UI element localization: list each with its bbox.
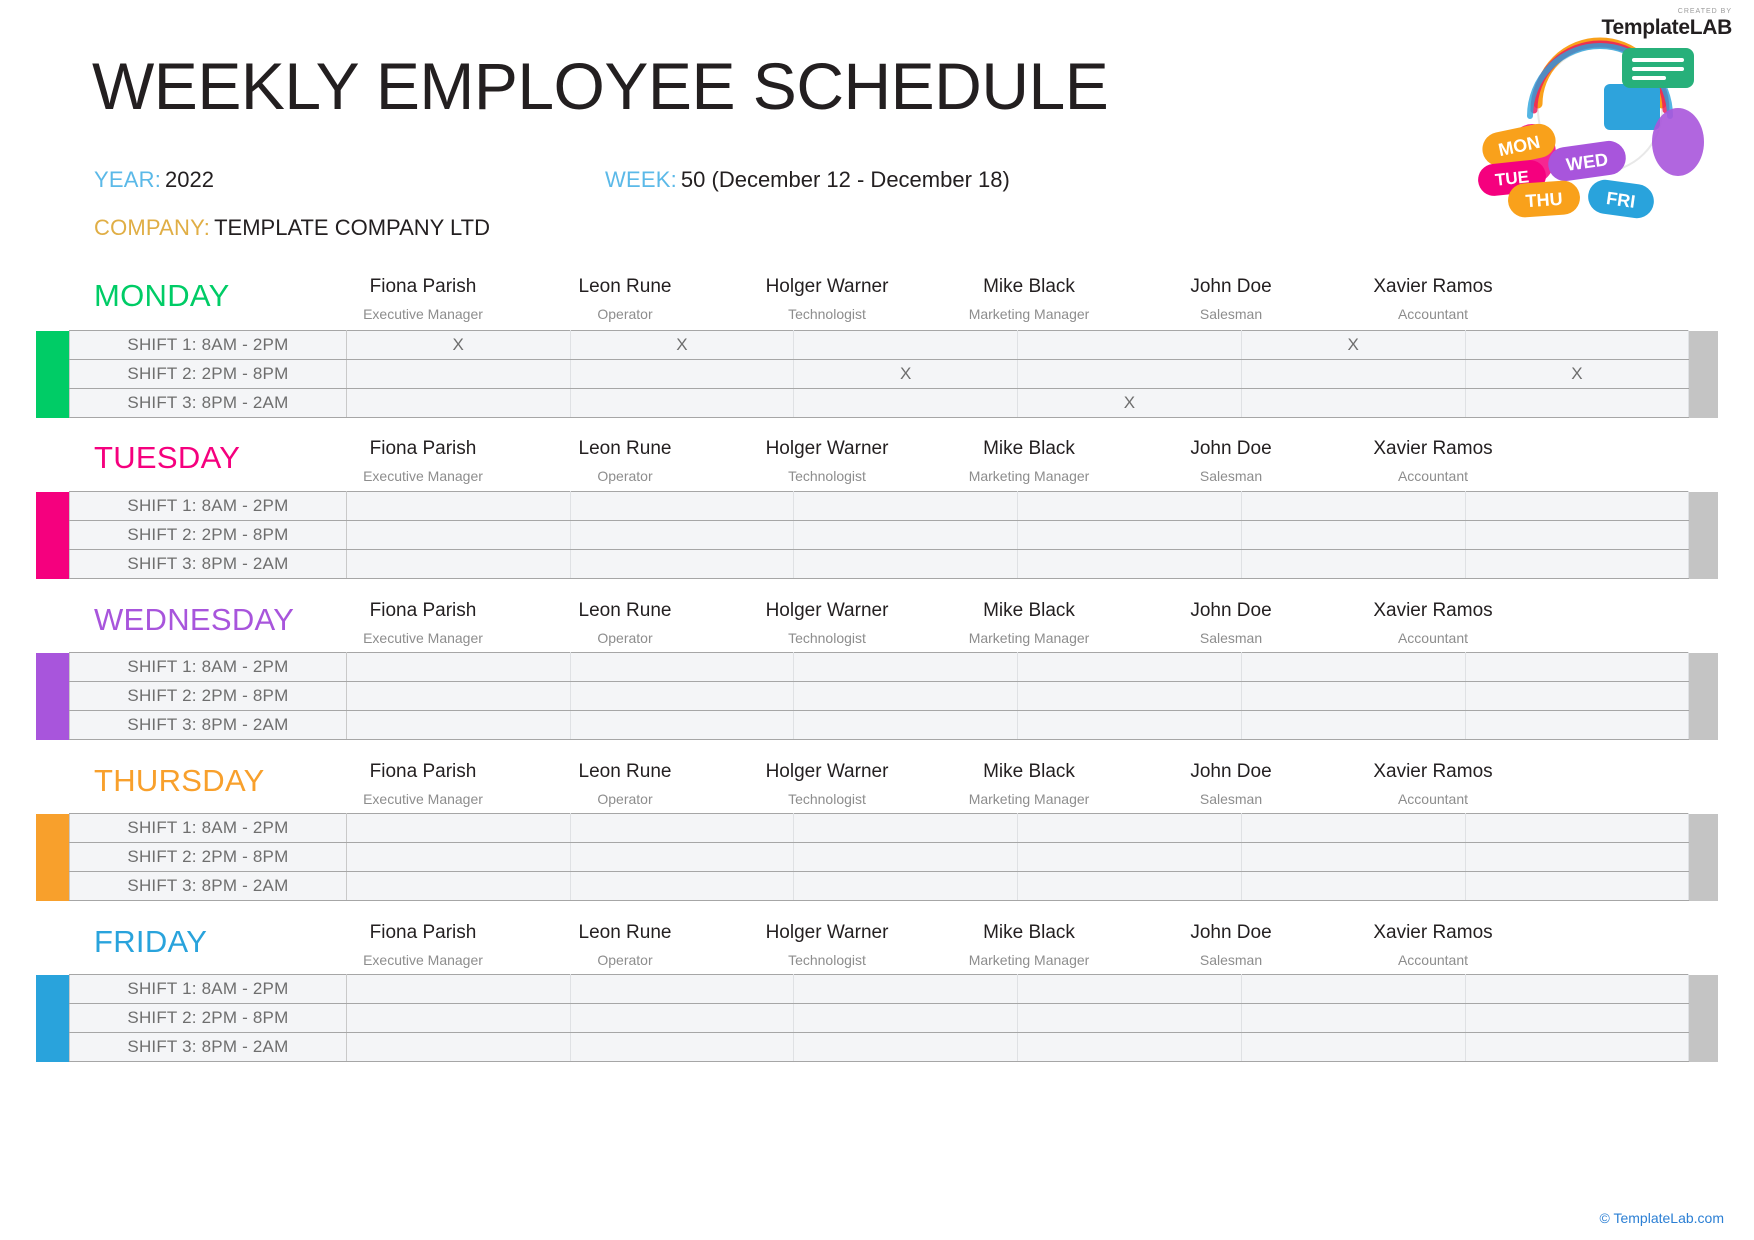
employee-header: Xavier RamosAccountant bbox=[1332, 922, 1534, 969]
employee-name: Mike Black bbox=[928, 922, 1130, 945]
shift-assignment-cell[interactable] bbox=[1465, 653, 1689, 682]
employee-header: John DoeSalesman bbox=[1130, 276, 1332, 323]
day-color-swatch bbox=[36, 975, 70, 1004]
shift-assignment-cell[interactable] bbox=[570, 360, 794, 389]
employee-name: Fiona Parish bbox=[322, 600, 524, 623]
employee-role: Operator bbox=[524, 306, 726, 323]
shift-assignment-cell[interactable] bbox=[570, 814, 794, 843]
day-color-swatch bbox=[36, 331, 70, 360]
employee-name: Xavier Ramos bbox=[1332, 761, 1534, 784]
employee-name: Mike Black bbox=[928, 276, 1130, 299]
shift-assignment-cell[interactable] bbox=[346, 872, 570, 901]
shift-assignment-cell[interactable] bbox=[1018, 521, 1242, 550]
day-color-swatch bbox=[36, 843, 70, 872]
employee-role: Technologist bbox=[726, 791, 928, 808]
employee-header: Xavier RamosAccountant bbox=[1332, 276, 1534, 323]
employee-header: John DoeSalesman bbox=[1130, 761, 1332, 808]
employee-name: Fiona Parish bbox=[322, 761, 524, 784]
row-end-cap bbox=[1689, 682, 1718, 711]
employee-name: Mike Black bbox=[928, 600, 1130, 623]
day-color-swatch bbox=[36, 521, 70, 550]
employee-header: Fiona ParishExecutive Manager bbox=[322, 922, 524, 969]
employee-role: Accountant bbox=[1332, 306, 1534, 323]
shift-row: SHIFT 1: 8AM - 2PM bbox=[36, 492, 1718, 521]
shift-assignment-cell[interactable] bbox=[1241, 389, 1465, 418]
shift-row: SHIFT 1: 8AM - 2PMXXX bbox=[36, 331, 1718, 360]
week-value[interactable]: 50 (December 12 - December 18) bbox=[681, 167, 1010, 192]
shift-table: SHIFT 1: 8AM - 2PMSHIFT 2: 2PM - 8PMSHIF… bbox=[36, 491, 1718, 579]
employee-role: Accountant bbox=[1332, 468, 1534, 485]
row-end-cap bbox=[1689, 975, 1718, 1004]
employee-header: Xavier RamosAccountant bbox=[1332, 761, 1534, 808]
employee-header: Xavier RamosAccountant bbox=[1332, 438, 1534, 485]
shift-row: SHIFT 3: 8PM - 2AMX bbox=[36, 389, 1718, 418]
employee-name: Xavier Ramos bbox=[1332, 600, 1534, 623]
year-value[interactable]: 2022 bbox=[165, 167, 214, 192]
shift-label: SHIFT 3: 8PM - 2AM bbox=[70, 1033, 347, 1062]
employee-header: Leon RuneOperator bbox=[524, 438, 726, 485]
shift-assignment-cell[interactable] bbox=[570, 843, 794, 872]
employee-header: John DoeSalesman bbox=[1130, 600, 1332, 647]
shift-assignment-cell-marked[interactable]: X bbox=[794, 360, 1018, 389]
shift-row: SHIFT 3: 8PM - 2AM bbox=[36, 1033, 1718, 1062]
employee-header: John DoeSalesman bbox=[1130, 438, 1332, 485]
employee-name: Holger Warner bbox=[726, 276, 928, 299]
employee-role: Technologist bbox=[726, 306, 928, 323]
employee-header: Leon RuneOperator bbox=[524, 761, 726, 808]
shift-assignment-cell[interactable] bbox=[346, 975, 570, 1004]
shift-row: SHIFT 1: 8AM - 2PM bbox=[36, 653, 1718, 682]
day-color-swatch bbox=[36, 492, 70, 521]
shift-label: SHIFT 2: 2PM - 8PM bbox=[70, 521, 347, 550]
row-end-cap bbox=[1689, 1033, 1718, 1062]
shift-row: SHIFT 1: 8AM - 2PM bbox=[36, 975, 1718, 1004]
shift-assignment-cell[interactable] bbox=[570, 682, 794, 711]
day-name-wednesday: WEDNESDAY bbox=[94, 602, 294, 638]
shift-assignment-cell[interactable] bbox=[1241, 492, 1465, 521]
shift-assignment-cell[interactable] bbox=[570, 872, 794, 901]
shift-label: SHIFT 1: 8AM - 2PM bbox=[70, 975, 347, 1004]
shift-assignment-cell[interactable] bbox=[346, 843, 570, 872]
employee-header: Mike BlackMarketing Manager bbox=[928, 600, 1130, 647]
employee-header: Holger WarnerTechnologist bbox=[726, 276, 928, 323]
shift-assignment-cell[interactable] bbox=[1465, 711, 1689, 740]
shift-assignment-cell[interactable] bbox=[570, 492, 794, 521]
year-row: YEAR:2022 bbox=[94, 167, 214, 193]
page-title: WEEKLY EMPLOYEE SCHEDULE bbox=[92, 48, 1108, 124]
shift-label: SHIFT 3: 8PM - 2AM bbox=[70, 389, 347, 418]
employee-header: Mike BlackMarketing Manager bbox=[928, 922, 1130, 969]
shift-assignment-cell[interactable] bbox=[1241, 843, 1465, 872]
shift-assignment-cell[interactable] bbox=[570, 1033, 794, 1062]
weekday-badges-illustration: MON TUE WED THU FRI bbox=[1472, 32, 1722, 232]
employee-name: Xavier Ramos bbox=[1332, 276, 1534, 299]
employee-name: Leon Rune bbox=[524, 761, 726, 784]
employee-role: Executive Manager bbox=[322, 306, 524, 323]
shift-label: SHIFT 1: 8AM - 2PM bbox=[70, 653, 347, 682]
shift-assignment-cell[interactable] bbox=[346, 682, 570, 711]
company-value[interactable]: TEMPLATE COMPANY LTD bbox=[214, 215, 490, 240]
day-color-swatch bbox=[36, 550, 70, 579]
employee-role: Marketing Manager bbox=[928, 791, 1130, 808]
shift-assignment-cell[interactable] bbox=[1465, 492, 1689, 521]
employee-header: Fiona ParishExecutive Manager bbox=[322, 438, 524, 485]
company-label: COMPANY: bbox=[94, 215, 210, 240]
employee-name: Fiona Parish bbox=[322, 438, 524, 461]
employee-role: Accountant bbox=[1332, 630, 1534, 647]
shift-assignment-cell[interactable] bbox=[570, 521, 794, 550]
employee-role: Salesman bbox=[1130, 952, 1332, 969]
employee-role: Operator bbox=[524, 952, 726, 969]
brand-created-by-label: CREATED BY bbox=[1602, 8, 1733, 15]
day-color-swatch bbox=[36, 711, 70, 740]
shift-assignment-cell[interactable] bbox=[346, 711, 570, 740]
employee-header: Mike BlackMarketing Manager bbox=[928, 438, 1130, 485]
employee-header: Leon RuneOperator bbox=[524, 600, 726, 647]
employee-role: Salesman bbox=[1130, 791, 1332, 808]
shift-assignment-cell[interactable] bbox=[1465, 843, 1689, 872]
employee-header: Fiona ParishExecutive Manager bbox=[322, 761, 524, 808]
shift-assignment-cell[interactable] bbox=[346, 521, 570, 550]
shift-assignment-cell[interactable] bbox=[570, 389, 794, 418]
employee-header: Fiona ParishExecutive Manager bbox=[322, 276, 524, 323]
year-label: YEAR: bbox=[94, 167, 161, 192]
week-row: WEEK:50 (December 12 - December 18) bbox=[605, 167, 1010, 193]
shift-assignment-cell[interactable] bbox=[1018, 682, 1242, 711]
day-name-friday: FRIDAY bbox=[94, 924, 207, 960]
row-end-cap bbox=[1689, 814, 1718, 843]
employee-name: John Doe bbox=[1130, 600, 1332, 623]
shift-label: SHIFT 2: 2PM - 8PM bbox=[70, 682, 347, 711]
shift-assignment-cell[interactable] bbox=[1241, 975, 1465, 1004]
employee-role: Executive Manager bbox=[322, 630, 524, 647]
shift-assignment-cell[interactable] bbox=[1465, 1033, 1689, 1062]
shift-assignment-cell[interactable] bbox=[1465, 1004, 1689, 1033]
shift-assignment-cell[interactable] bbox=[1241, 1004, 1465, 1033]
shift-row: SHIFT 3: 8PM - 2AM bbox=[36, 711, 1718, 740]
employee-header: Mike BlackMarketing Manager bbox=[928, 276, 1130, 323]
employee-name: John Doe bbox=[1130, 761, 1332, 784]
shift-assignment-cell[interactable] bbox=[570, 653, 794, 682]
day-color-swatch bbox=[36, 814, 70, 843]
shift-assignment-cell[interactable] bbox=[346, 492, 570, 521]
shift-assignment-cell-marked[interactable]: X bbox=[1465, 360, 1689, 389]
shift-assignment-cell[interactable] bbox=[1018, 360, 1242, 389]
shift-assignment-cell[interactable] bbox=[570, 975, 794, 1004]
shift-assignment-cell[interactable] bbox=[1241, 682, 1465, 711]
company-row: COMPANY:TEMPLATE COMPANY LTD bbox=[94, 215, 490, 241]
shift-row: SHIFT 2: 2PM - 8PMXX bbox=[36, 360, 1718, 389]
row-end-cap bbox=[1689, 389, 1718, 418]
shift-assignment-cell[interactable] bbox=[1018, 814, 1242, 843]
employee-header: Leon RuneOperator bbox=[524, 276, 726, 323]
shift-assignment-cell-marked[interactable]: X bbox=[1241, 331, 1465, 360]
row-end-cap bbox=[1689, 1004, 1718, 1033]
row-end-cap bbox=[1689, 653, 1718, 682]
employee-role: Salesman bbox=[1130, 630, 1332, 647]
employee-name: John Doe bbox=[1130, 438, 1332, 461]
shift-assignment-cell[interactable] bbox=[346, 1004, 570, 1033]
employee-role: Technologist bbox=[726, 630, 928, 647]
employee-role: Executive Manager bbox=[322, 952, 524, 969]
shift-assignment-cell[interactable] bbox=[1465, 975, 1689, 1004]
row-end-cap bbox=[1689, 360, 1718, 389]
shift-assignment-cell[interactable] bbox=[346, 814, 570, 843]
employee-header: Fiona ParishExecutive Manager bbox=[322, 600, 524, 647]
employee-role: Operator bbox=[524, 791, 726, 808]
shift-assignment-cell[interactable] bbox=[1241, 711, 1465, 740]
shift-assignment-cell[interactable] bbox=[794, 653, 1018, 682]
shift-assignment-cell[interactable] bbox=[794, 843, 1018, 872]
employee-role: Operator bbox=[524, 630, 726, 647]
shift-assignment-cell[interactable] bbox=[1018, 711, 1242, 740]
employee-name: Mike Black bbox=[928, 761, 1130, 784]
employee-name: Leon Rune bbox=[524, 922, 726, 945]
day-name-monday: MONDAY bbox=[94, 278, 230, 314]
shift-assignment-cell[interactable] bbox=[794, 682, 1018, 711]
day-color-swatch bbox=[36, 1033, 70, 1062]
shift-label: SHIFT 1: 8AM - 2PM bbox=[70, 814, 347, 843]
shift-assignment-cell[interactable] bbox=[570, 711, 794, 740]
shift-label: SHIFT 1: 8AM - 2PM bbox=[70, 331, 347, 360]
shift-assignment-cell[interactable] bbox=[1465, 550, 1689, 579]
shift-assignment-cell[interactable] bbox=[794, 814, 1018, 843]
shift-row: SHIFT 3: 8PM - 2AM bbox=[36, 872, 1718, 901]
shift-label: SHIFT 3: 8PM - 2AM bbox=[70, 872, 347, 901]
day-color-swatch bbox=[36, 1004, 70, 1033]
employee-role: Marketing Manager bbox=[928, 952, 1130, 969]
employee-header: Holger WarnerTechnologist bbox=[726, 438, 928, 485]
shift-assignment-cell[interactable] bbox=[1018, 331, 1242, 360]
shift-assignment-cell[interactable] bbox=[346, 1033, 570, 1062]
shift-assignment-cell[interactable] bbox=[794, 492, 1018, 521]
row-end-cap bbox=[1689, 711, 1718, 740]
badge-thu-text: THU bbox=[1525, 189, 1563, 212]
day-color-swatch bbox=[36, 389, 70, 418]
employee-header: Xavier RamosAccountant bbox=[1332, 600, 1534, 647]
shift-assignment-cell[interactable] bbox=[570, 550, 794, 579]
row-end-cap bbox=[1689, 521, 1718, 550]
shift-label: SHIFT 3: 8PM - 2AM bbox=[70, 550, 347, 579]
employee-header: John DoeSalesman bbox=[1130, 922, 1332, 969]
employee-role: Marketing Manager bbox=[928, 468, 1130, 485]
row-end-cap bbox=[1689, 331, 1718, 360]
employee-name: Leon Rune bbox=[524, 276, 726, 299]
shift-assignment-cell[interactable] bbox=[1018, 872, 1242, 901]
shift-assignment-cell[interactable] bbox=[794, 1033, 1018, 1062]
employee-role: Accountant bbox=[1332, 952, 1534, 969]
row-end-cap bbox=[1689, 550, 1718, 579]
shift-label: SHIFT 2: 2PM - 8PM bbox=[70, 1004, 347, 1033]
employee-name: Mike Black bbox=[928, 438, 1130, 461]
shift-assignment-cell[interactable] bbox=[1465, 682, 1689, 711]
day-color-swatch bbox=[36, 653, 70, 682]
shift-label: SHIFT 3: 8PM - 2AM bbox=[70, 711, 347, 740]
shift-assignment-cell[interactable] bbox=[794, 711, 1018, 740]
badge-fri-text: FRI bbox=[1605, 188, 1637, 212]
employee-name: Holger Warner bbox=[726, 600, 928, 623]
shift-row: SHIFT 2: 2PM - 8PM bbox=[36, 1004, 1718, 1033]
shift-assignment-cell[interactable] bbox=[794, 331, 1018, 360]
shift-label: SHIFT 2: 2PM - 8PM bbox=[70, 843, 347, 872]
employee-role: Salesman bbox=[1130, 468, 1332, 485]
employee-role: Accountant bbox=[1332, 791, 1534, 808]
employee-name: Fiona Parish bbox=[322, 922, 524, 945]
employee-role: Marketing Manager bbox=[928, 630, 1130, 647]
employee-header: Leon RuneOperator bbox=[524, 922, 726, 969]
shift-assignment-cell[interactable] bbox=[1241, 360, 1465, 389]
employee-name: Xavier Ramos bbox=[1332, 922, 1534, 945]
shift-assignment-cell[interactable] bbox=[794, 550, 1018, 579]
shift-assignment-cell[interactable] bbox=[1018, 1033, 1242, 1062]
shift-assignment-cell[interactable] bbox=[1241, 550, 1465, 579]
employee-name: John Doe bbox=[1130, 276, 1332, 299]
shift-assignment-cell[interactable] bbox=[1241, 872, 1465, 901]
shift-assignment-cell[interactable] bbox=[1241, 814, 1465, 843]
shift-assignment-cell[interactable] bbox=[1018, 550, 1242, 579]
day-color-swatch bbox=[36, 872, 70, 901]
row-end-cap bbox=[1689, 872, 1718, 901]
employee-name: Leon Rune bbox=[524, 438, 726, 461]
shift-assignment-cell[interactable] bbox=[794, 1004, 1018, 1033]
employee-name: Holger Warner bbox=[726, 761, 928, 784]
employee-header: Holger WarnerTechnologist bbox=[726, 922, 928, 969]
shift-assignment-cell[interactable] bbox=[346, 653, 570, 682]
shift-label: SHIFT 2: 2PM - 8PM bbox=[70, 360, 347, 389]
shift-row: SHIFT 1: 8AM - 2PM bbox=[36, 814, 1718, 843]
shift-assignment-cell-marked[interactable]: X bbox=[1018, 389, 1242, 418]
footer-copyright[interactable]: © TemplateLab.com bbox=[1600, 1210, 1724, 1226]
shift-assignment-cell[interactable] bbox=[794, 872, 1018, 901]
shift-assignment-cell[interactable] bbox=[346, 550, 570, 579]
shift-assignment-cell[interactable] bbox=[1465, 331, 1689, 360]
shift-table: SHIFT 1: 8AM - 2PMXXXSHIFT 2: 2PM - 8PMX… bbox=[36, 330, 1718, 418]
employee-name: John Doe bbox=[1130, 922, 1332, 945]
shift-assignment-cell[interactable] bbox=[1241, 521, 1465, 550]
shift-row: SHIFT 2: 2PM - 8PM bbox=[36, 682, 1718, 711]
week-label: WEEK: bbox=[605, 167, 677, 192]
employee-role: Executive Manager bbox=[322, 791, 524, 808]
employee-name: Fiona Parish bbox=[322, 276, 524, 299]
row-end-cap bbox=[1689, 492, 1718, 521]
employee-role: Technologist bbox=[726, 468, 928, 485]
employee-header: Holger WarnerTechnologist bbox=[726, 761, 928, 808]
day-name-tuesday: TUESDAY bbox=[94, 440, 240, 476]
employee-role: Operator bbox=[524, 468, 726, 485]
shift-assignment-cell[interactable] bbox=[794, 389, 1018, 418]
employee-header: Holger WarnerTechnologist bbox=[726, 600, 928, 647]
schedule-page: CREATED BY TemplateLAB MON TUE WED THU bbox=[0, 0, 1754, 1240]
row-end-cap bbox=[1689, 843, 1718, 872]
employee-name: Xavier Ramos bbox=[1332, 438, 1534, 461]
employee-header: Mike BlackMarketing Manager bbox=[928, 761, 1130, 808]
employee-name: Leon Rune bbox=[524, 600, 726, 623]
shift-assignment-cell[interactable] bbox=[1241, 653, 1465, 682]
shift-label: SHIFT 1: 8AM - 2PM bbox=[70, 492, 347, 521]
employee-name: Holger Warner bbox=[726, 922, 928, 945]
day-color-swatch bbox=[36, 360, 70, 389]
shift-assignment-cell[interactable] bbox=[1241, 1033, 1465, 1062]
shift-assignment-cell[interactable] bbox=[346, 389, 570, 418]
day-color-swatch bbox=[36, 682, 70, 711]
shift-assignment-cell[interactable] bbox=[794, 975, 1018, 1004]
shift-table: SHIFT 1: 8AM - 2PMSHIFT 2: 2PM - 8PMSHIF… bbox=[36, 974, 1718, 1062]
shift-assignment-cell[interactable] bbox=[1018, 492, 1242, 521]
shift-assignment-cell[interactable] bbox=[1018, 843, 1242, 872]
employee-role: Technologist bbox=[726, 952, 928, 969]
shift-row: SHIFT 3: 8PM - 2AM bbox=[36, 550, 1718, 579]
day-name-thursday: THURSDAY bbox=[94, 763, 265, 799]
shift-assignment-cell[interactable] bbox=[1465, 521, 1689, 550]
employee-name: Holger Warner bbox=[726, 438, 928, 461]
shift-row: SHIFT 2: 2PM - 8PM bbox=[36, 843, 1718, 872]
shift-assignment-cell[interactable] bbox=[794, 521, 1018, 550]
shift-assignment-cell[interactable] bbox=[1465, 872, 1689, 901]
employee-role: Executive Manager bbox=[322, 468, 524, 485]
shift-table: SHIFT 1: 8AM - 2PMSHIFT 2: 2PM - 8PMSHIF… bbox=[36, 813, 1718, 901]
employee-role: Marketing Manager bbox=[928, 306, 1130, 323]
shift-table: SHIFT 1: 8AM - 2PMSHIFT 2: 2PM - 8PMSHIF… bbox=[36, 652, 1718, 740]
shift-assignment-cell[interactable] bbox=[1018, 653, 1242, 682]
shift-assignment-cell-marked[interactable]: X bbox=[346, 331, 570, 360]
shift-assignment-cell[interactable] bbox=[1465, 814, 1689, 843]
shift-assignment-cell[interactable] bbox=[1018, 1004, 1242, 1033]
shift-row: SHIFT 2: 2PM - 8PM bbox=[36, 521, 1718, 550]
shift-assignment-cell[interactable] bbox=[1018, 975, 1242, 1004]
employee-role: Salesman bbox=[1130, 306, 1332, 323]
shift-assignment-cell[interactable] bbox=[570, 1004, 794, 1033]
shift-assignment-cell[interactable] bbox=[1465, 389, 1689, 418]
shift-assignment-cell-marked[interactable]: X bbox=[570, 331, 794, 360]
shift-assignment-cell[interactable] bbox=[346, 360, 570, 389]
